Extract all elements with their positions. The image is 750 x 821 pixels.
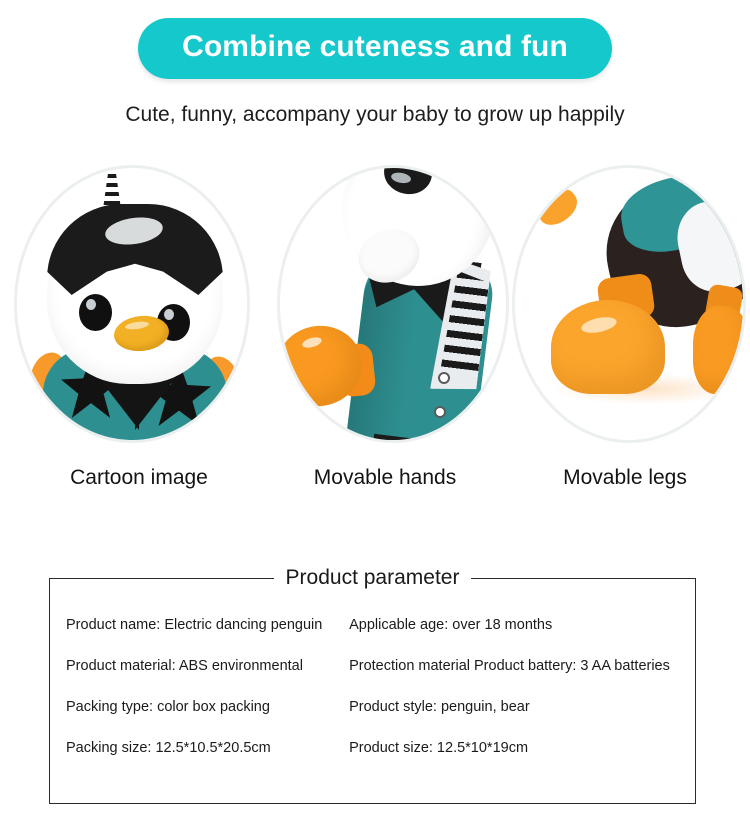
- penguin-fin-shape: [533, 184, 583, 232]
- product-detail-page: Combine cuteness and fun Cute, funny, ac…: [0, 0, 750, 821]
- parameter-row: Protection material Product battery: 3 A…: [349, 646, 695, 687]
- parameter-row: Applicable age: over 18 months: [349, 605, 695, 646]
- penguin-jacket-button-top: [438, 372, 450, 384]
- header-banner-wrapper: Combine cuteness and fun: [0, 18, 750, 79]
- subtitle-text: Cute, funny, accompany your baby to grow…: [0, 100, 750, 130]
- penguin-foot-right: [693, 306, 746, 394]
- penguin-jacket-button-bottom: [434, 406, 446, 418]
- penguin-hand-illustration: [280, 168, 506, 440]
- header-banner: Combine cuteness and fun: [138, 18, 612, 79]
- product-parameter-grid: Product name: Electric dancing penguin P…: [50, 605, 695, 769]
- product-parameter-box: Product parameter Product name: Electric…: [49, 578, 696, 804]
- parameter-row: Packing size: 12.5*10.5*20.5cm: [66, 728, 349, 769]
- penguin-eye-left: [79, 294, 112, 331]
- feature-circle-movable-hands: [277, 165, 509, 443]
- parameter-column-right: Applicable age: over 18 months Protectio…: [349, 605, 695, 769]
- parameter-row: Product size: 12.5*10*19cm: [349, 728, 695, 769]
- feature-circle-movable-legs: [512, 165, 746, 443]
- parameter-row: Product style: penguin, bear: [349, 687, 695, 728]
- feature-circle-cartoon-image: [14, 165, 250, 443]
- parameter-row: Product name: Electric dancing penguin: [66, 605, 349, 646]
- caption-movable-hands: Movable hands: [260, 463, 510, 493]
- caption-movable-legs: Movable legs: [500, 463, 750, 493]
- penguin-foot-left: [551, 300, 665, 394]
- product-parameter-title: Product parameter: [274, 563, 472, 593]
- banner-title: Combine cuteness and fun: [182, 27, 568, 67]
- parameter-row: Packing type: color box packing: [66, 687, 349, 728]
- penguin-legs-illustration: [515, 168, 743, 440]
- parameter-column-left: Product name: Electric dancing penguin P…: [50, 605, 349, 769]
- caption-cartoon-image: Cartoon image: [14, 463, 264, 493]
- parameter-row: Product material: ABS environmental: [66, 646, 349, 687]
- feature-circle-group: [0, 165, 750, 450]
- feature-caption-group: Cartoon image Movable hands Movable legs: [0, 463, 750, 499]
- penguin-eye-small: [711, 198, 722, 209]
- penguin-head-illustration: [17, 168, 247, 440]
